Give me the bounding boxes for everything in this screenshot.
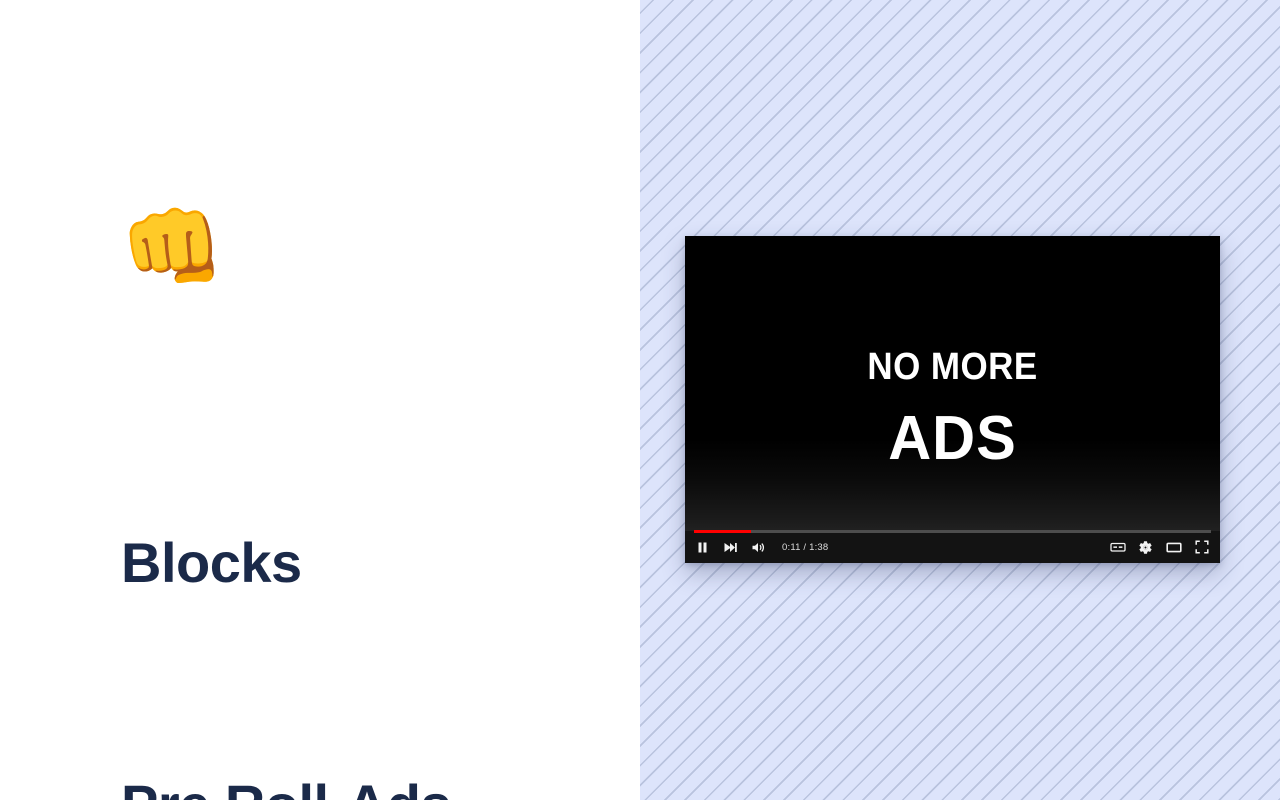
video-control-bar[interactable]: 0:11 / 1:38 — [685, 531, 1220, 563]
closed-captions-icon — [1110, 541, 1126, 553]
theater-mode-icon — [1166, 541, 1182, 554]
control-left-group: 0:11 / 1:38 — [685, 539, 828, 556]
page-title-line-2: Pre Roll-Ads — [121, 765, 451, 800]
theater-mode-button[interactable] — [1165, 539, 1182, 556]
settings-gear-button[interactable] — [1137, 539, 1154, 556]
overlay-line-ads: ADS — [696, 408, 1210, 470]
next-track-icon — [723, 541, 738, 554]
pause-button[interactable] — [694, 539, 711, 556]
next-track-button[interactable] — [722, 539, 739, 556]
video-screen[interactable]: NO MORE ADS — [685, 236, 1220, 563]
fullscreen-icon — [1195, 540, 1209, 554]
volume-button[interactable] — [750, 539, 767, 556]
video-player[interactable]: NO MORE ADS — [685, 236, 1220, 563]
right-pattern-panel: NO MORE ADS — [640, 0, 1280, 800]
time-display: 0:11 / 1:38 — [782, 542, 828, 553]
page-title-line-1: Blocks — [121, 523, 451, 604]
volume-icon — [751, 541, 766, 554]
page-title: Blocks Pre Roll-Ads — [121, 362, 451, 800]
control-right-group — [1109, 539, 1220, 556]
overlay-line-no-more: NO MORE — [706, 348, 1198, 386]
page-root: 👊 Blocks Pre Roll-Ads NO MORE ADS — [0, 0, 1280, 800]
pause-icon — [696, 541, 709, 554]
subtitles-cc-button[interactable] — [1109, 539, 1126, 556]
fullscreen-button[interactable] — [1193, 539, 1210, 556]
left-content-panel: 👊 Blocks Pre Roll-Ads — [0, 0, 640, 800]
control-row: 0:11 / 1:38 — [685, 531, 1220, 563]
video-overlay-text: NO MORE ADS — [685, 348, 1220, 470]
gear-icon — [1138, 540, 1153, 555]
oncoming-fist-icon: 👊 — [120, 205, 225, 289]
